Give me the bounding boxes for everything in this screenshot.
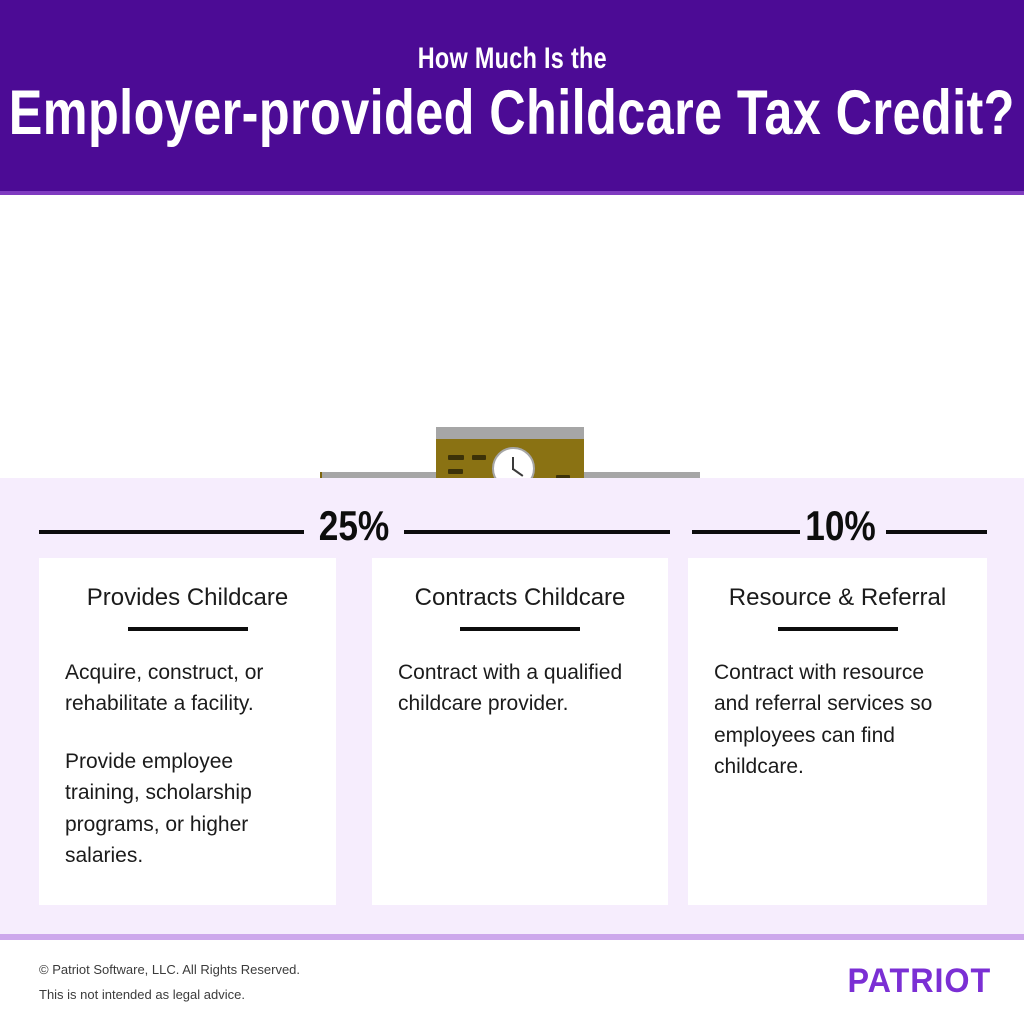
percent-rule-left bbox=[39, 530, 304, 534]
percentage-row: 25% 10% bbox=[0, 508, 1024, 556]
card-title-underline bbox=[778, 627, 898, 631]
card-paragraph: Contract with resource and referral serv… bbox=[714, 657, 961, 783]
percent-rule-middle bbox=[404, 530, 670, 534]
copyright-text: © Patriot Software, LLC. All Rights Rese… bbox=[39, 958, 300, 983]
disclaimer-text: This is not intended as legal advice. bbox=[39, 983, 300, 1008]
header-banner: How Much Is the Employer-provided Childc… bbox=[0, 0, 1024, 191]
card-title: Contracts Childcare bbox=[398, 584, 642, 613]
building-roof-center bbox=[436, 427, 584, 439]
header-kicker: How Much Is the bbox=[417, 44, 606, 74]
percent-rule-third bbox=[692, 530, 800, 534]
infographic-poster: How Much Is the Employer-provided Childc… bbox=[0, 0, 1024, 1024]
percent-rule-right bbox=[886, 530, 987, 534]
card-provides-childcare: Provides Childcare Acquire, construct, o… bbox=[39, 558, 336, 905]
patriot-logo: PATRIOT bbox=[847, 962, 991, 1001]
percent-value-25: 25% bbox=[312, 505, 396, 547]
card-paragraph: Contract with a qualified childcare prov… bbox=[398, 657, 642, 720]
footer: © Patriot Software, LLC. All Rights Rese… bbox=[0, 940, 1024, 1024]
card-title-underline bbox=[460, 627, 580, 631]
card-title: Resource & Referral bbox=[714, 584, 961, 613]
page-title: Employer-provided Childcare Tax Credit? bbox=[9, 80, 1015, 146]
card-paragraph: Provide employee training, scholarship p… bbox=[65, 746, 310, 872]
card-contracts-childcare: Contracts Childcare Contract with a qual… bbox=[372, 558, 668, 905]
card-title-underline bbox=[128, 627, 248, 631]
card-paragraph: Acquire, construct, or rehabilitate a fa… bbox=[65, 657, 310, 720]
card-title: Provides Childcare bbox=[65, 584, 310, 613]
illustration-band: Childcare Resources bbox=[0, 195, 1024, 478]
footer-legal: © Patriot Software, LLC. All Rights Rese… bbox=[39, 958, 300, 1007]
percent-value-10: 10% bbox=[802, 505, 878, 547]
card-resource-referral: Resource & Referral Contract with resour… bbox=[688, 558, 987, 905]
